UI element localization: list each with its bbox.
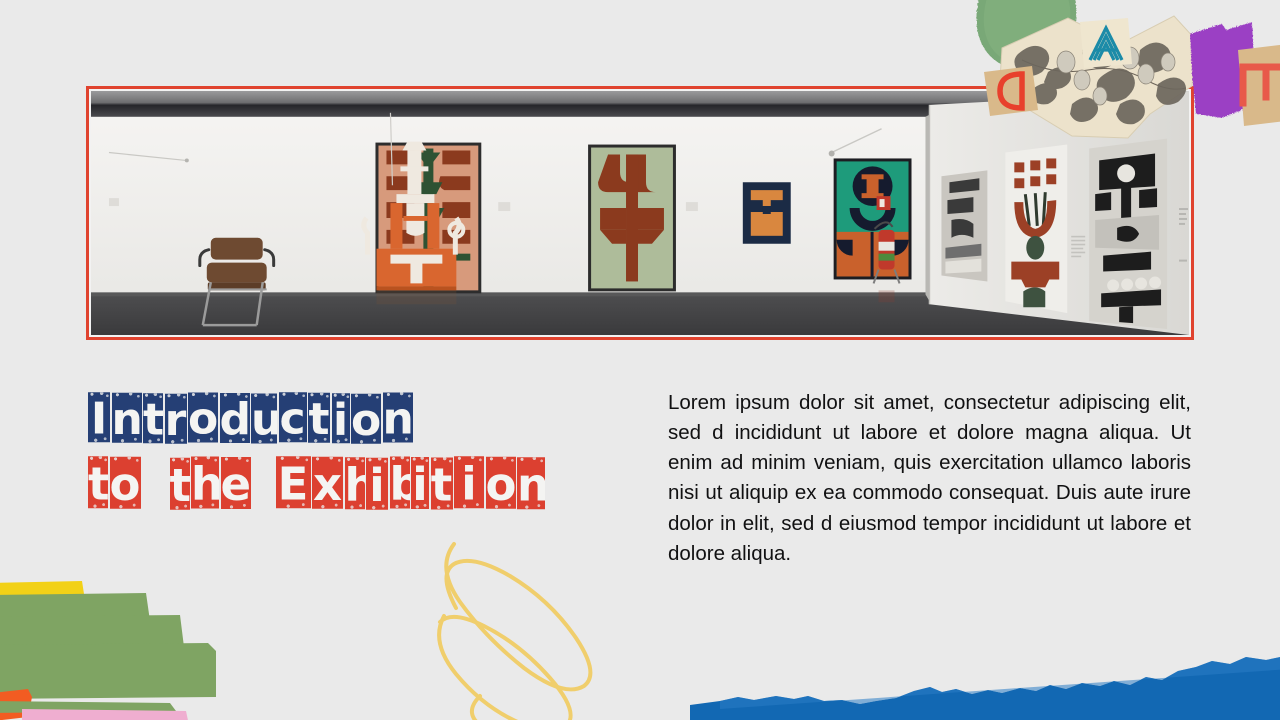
painting-small-ochre <box>743 182 791 243</box>
title-line-2: to the Exhibition <box>88 457 547 509</box>
letter-e-tile <box>1238 44 1280 126</box>
title-tile-t: t <box>170 458 190 510</box>
title-tile-o: o <box>351 394 381 444</box>
title-tile-t: t <box>308 393 330 443</box>
intro-body-text: Lorem ipsum dolor sit amet, consectetur … <box>668 388 1191 569</box>
title-tile-t: t <box>88 456 108 508</box>
letter-a-tile <box>1080 18 1132 68</box>
title-tile-i: i <box>332 393 350 443</box>
relief-grey-vertical <box>941 170 987 281</box>
title-tile-n: n <box>517 457 545 509</box>
title-tile-h: h <box>345 457 365 509</box>
title-tile-c: c <box>279 392 307 442</box>
title-tile-o: o <box>110 457 141 509</box>
title-tile-i: I <box>88 392 110 442</box>
painting-totem-sage <box>588 145 676 292</box>
paper-collage-top-right <box>960 0 1280 173</box>
title-tile-i: i <box>454 456 484 508</box>
title-tile-b: b <box>390 457 410 509</box>
title-tile-space <box>142 457 168 509</box>
title-tile-i: i <box>366 458 388 510</box>
title-tile-t: t <box>431 458 453 510</box>
torn-blue-paper-edge <box>690 655 1280 720</box>
title-tile-e: e <box>221 457 251 509</box>
green-paper-strip-3 <box>0 643 216 699</box>
title-tile-t: t <box>143 393 163 443</box>
title-tile-n: n <box>112 393 142 443</box>
letter-d-tile <box>984 66 1038 116</box>
painting-teal-circle <box>834 158 912 279</box>
page-title: Introduction to the Exhibition <box>88 393 547 509</box>
title-tile-d: d <box>220 393 250 443</box>
title-tile-n: n <box>383 393 413 443</box>
title-tile-h: h <box>191 457 219 509</box>
title-tile-u: u <box>251 394 277 444</box>
title-tile-x: x <box>312 457 343 509</box>
title-tile-r: r <box>165 394 187 444</box>
title-tile-i: i <box>411 457 429 509</box>
title-tile-o: o <box>486 457 516 509</box>
title-line-1: Introduction <box>88 393 547 443</box>
title-tile-o: o <box>188 393 218 443</box>
paper-strips-bottom-left <box>0 555 270 720</box>
title-tile-space <box>252 458 274 510</box>
title-tile-e: E <box>276 456 311 508</box>
